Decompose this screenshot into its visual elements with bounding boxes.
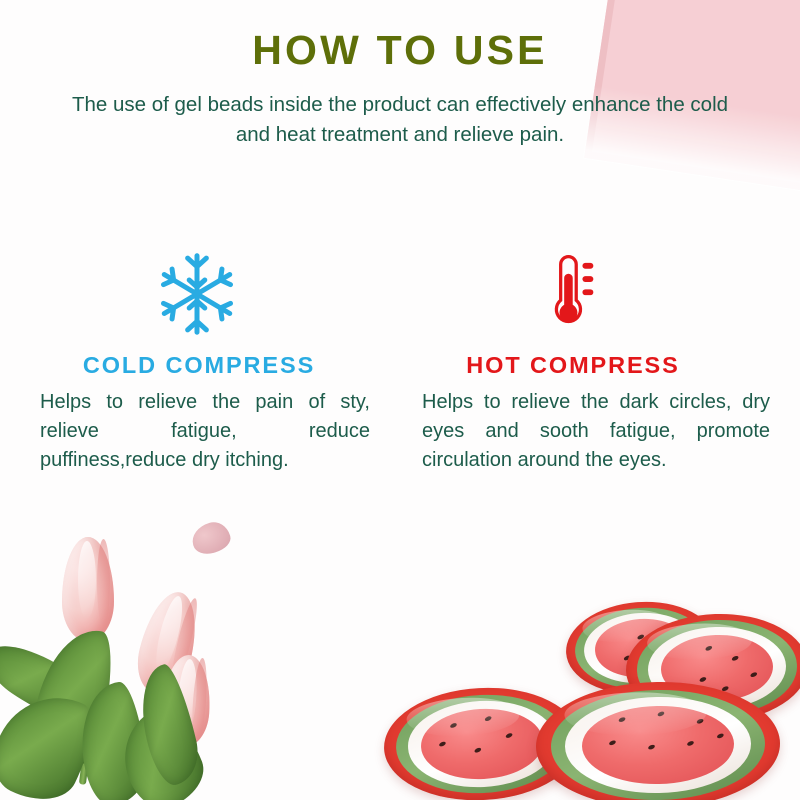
tulip-flower xyxy=(62,537,114,641)
feature-heading-cold: COLD COMPRESS xyxy=(22,352,386,379)
infographic-page: HOW TO USE The use of gel beads inside t… xyxy=(0,0,800,800)
feature-hot-compress: HOT COMPRESS Helps to relieve the dark c… xyxy=(400,246,800,476)
page-title: HOW TO USE xyxy=(0,27,800,74)
thermometer-icon xyxy=(414,246,778,342)
floating-petal xyxy=(189,518,234,557)
feature-body-cold: Helps to relieve the pain of sty, reliev… xyxy=(22,388,386,476)
tulips-photo xyxy=(0,515,296,800)
product-photo-band xyxy=(0,515,800,800)
feature-body-hot: Helps to relieve the dark circles, dry e… xyxy=(414,388,778,476)
page-subtitle: The use of gel beads inside the product … xyxy=(70,90,730,149)
feature-columns: COLD COMPRESS Helps to relieve the pain … xyxy=(0,246,800,476)
snowflake-icon xyxy=(22,246,386,342)
feature-heading-hot: HOT COMPRESS xyxy=(414,352,778,379)
gel-pads-photo xyxy=(376,596,800,800)
feature-cold-compress: COLD COMPRESS Helps to relieve the pain … xyxy=(0,246,400,476)
